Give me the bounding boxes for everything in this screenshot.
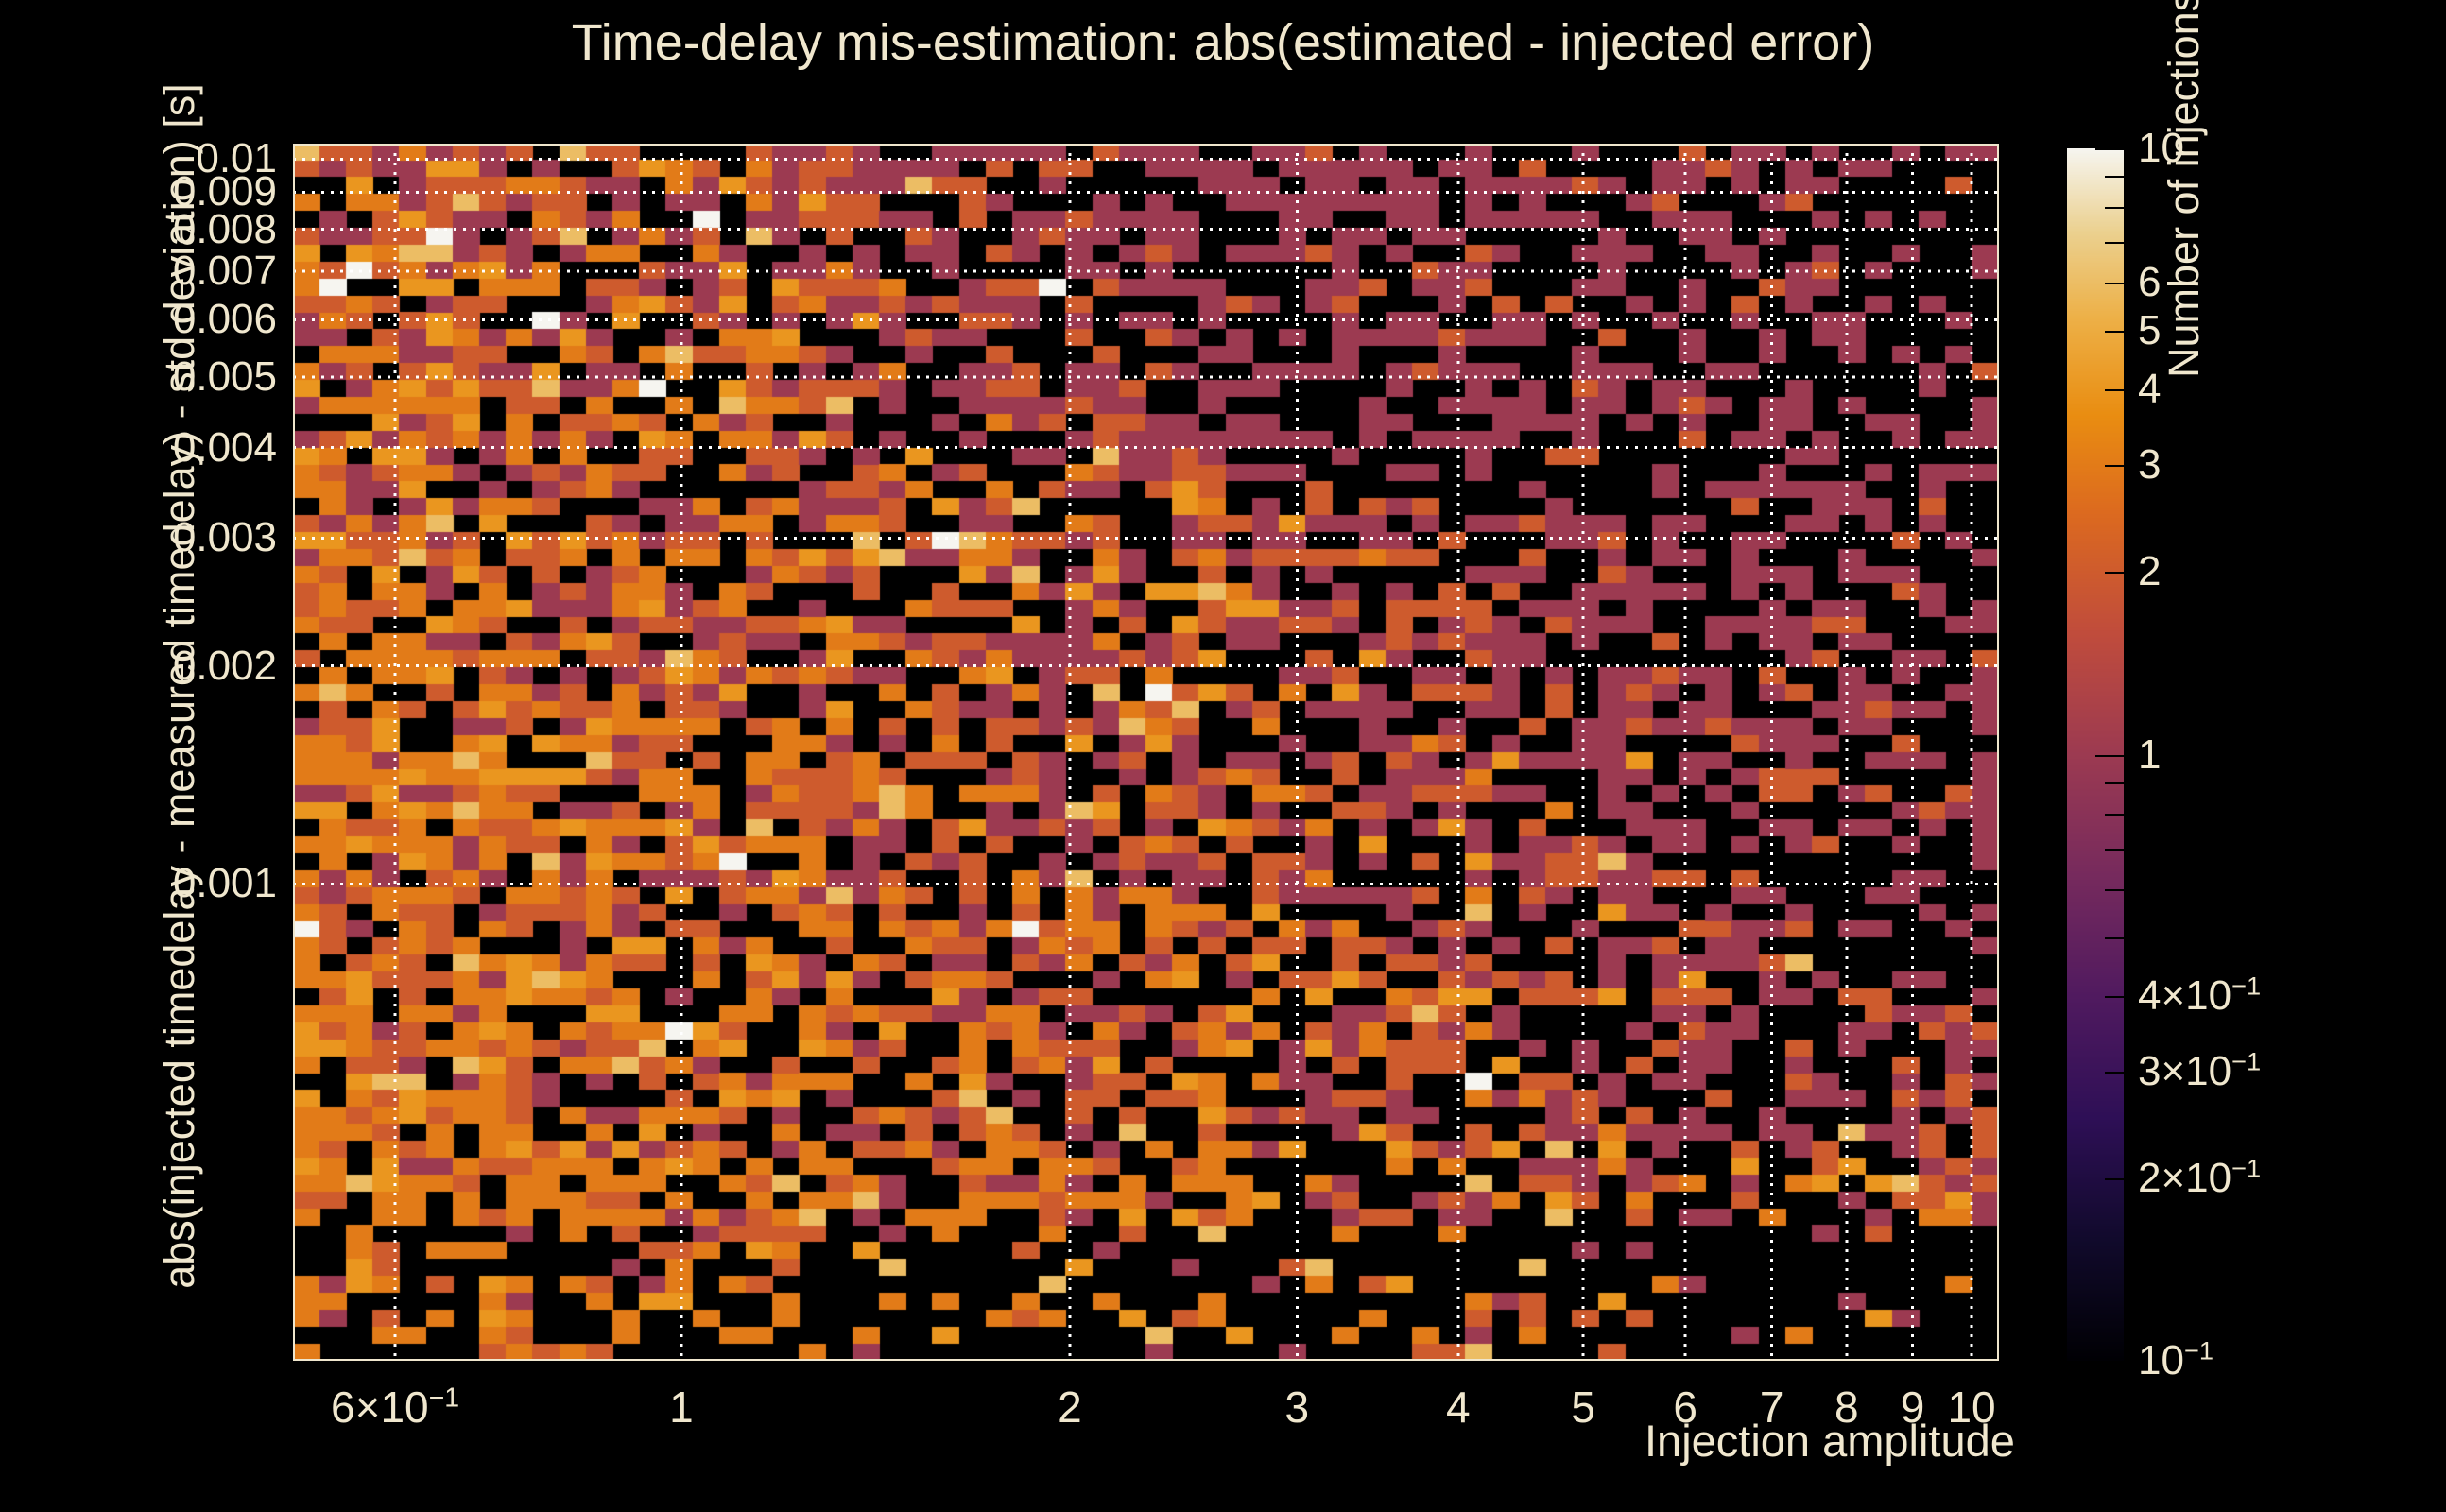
colorbar-ticks (2067, 148, 2124, 1361)
figure-canvas: Time-delay mis-estimation: abs(estimated… (0, 0, 2446, 1512)
colorbar-tick-label: 2×10−1 (2138, 1155, 2261, 1202)
x-tick-label: 5 (1571, 1382, 1595, 1433)
x-tick-label: 6×10−1 (331, 1382, 459, 1433)
colorbar-tick-mark (2105, 389, 2124, 391)
colorbar-tick-mark (2095, 1361, 2124, 1363)
colorbar-tick-mark (2105, 207, 2124, 209)
x-tick-label: 2 (1058, 1382, 1082, 1433)
y-tick-label: 0.002 (173, 643, 277, 690)
x-tick-label: 4 (1446, 1382, 1471, 1433)
z-axis-title: Number of injections (2160, 0, 2209, 378)
colorbar-tick-mark (2095, 148, 2124, 150)
x-tick-label: 10 (1947, 1382, 1995, 1433)
colorbar-tick-label: 4 (2138, 366, 2161, 413)
colorbar-tick-mark (2105, 996, 2124, 998)
y-tick-label: 0.004 (173, 424, 277, 472)
colorbar-tick-label: 3×10−1 (2138, 1048, 2261, 1095)
x-tick-label: 7 (1760, 1382, 1784, 1433)
colorbar-tick-mark (2105, 937, 2124, 939)
y-tick-label: 0.01 (196, 135, 277, 182)
x-tick-label: 3 (1284, 1382, 1309, 1433)
y-tick-label: 0.007 (173, 248, 277, 295)
colorbar-tick-label: 1 (2138, 731, 2161, 779)
colorbar-tick-mark (2105, 1072, 2124, 1074)
colorbar-tick-mark (2105, 889, 2124, 891)
heatmap-plot-area[interactable] (293, 144, 1999, 1361)
y-tick-label: 0.003 (173, 514, 277, 561)
colorbar-tick-mark (2105, 176, 2124, 178)
colorbar-tick-mark (2105, 465, 2124, 467)
colorbar-tick-label: 4×10−1 (2138, 972, 2261, 1020)
colorbar-tick-mark (2105, 849, 2124, 850)
colorbar-tick-mark (2105, 782, 2124, 784)
colorbar-tick-label: 3 (2138, 441, 2161, 489)
y-tick-label: 0.001 (173, 860, 277, 907)
x-tick-label: 1 (669, 1382, 694, 1433)
x-tick-label: 8 (1834, 1382, 1859, 1433)
colorbar-tick-mark (2095, 755, 2124, 757)
heatmap-cells (293, 144, 1999, 1361)
colorbar-tick-mark (2105, 572, 2124, 574)
y-tick-label: 0.006 (173, 296, 277, 343)
colorbar-tick-label: 10 (2138, 125, 2184, 172)
page-title: Time-delay mis-estimation: abs(estimated… (0, 13, 2446, 72)
colorbar-tick-label: 10−1 (2138, 1337, 2213, 1384)
colorbar-tick-label: 2 (2138, 548, 2161, 595)
colorbar-tick-label: 6 (2138, 259, 2161, 306)
colorbar-tick-mark (2105, 242, 2124, 244)
colorbar-tick-label: 5 (2138, 307, 2161, 354)
x-tick-label: 6 (1673, 1382, 1697, 1433)
colorbar-tick-mark (2105, 1178, 2124, 1180)
y-tick-label: 0.005 (173, 353, 277, 401)
colorbar-tick-mark (2105, 283, 2124, 284)
colorbar-tick-mark (2105, 331, 2124, 333)
x-tick-label: 9 (1901, 1382, 1925, 1433)
colorbar-tick-mark (2105, 814, 2124, 816)
colorbar[interactable] (2067, 148, 2124, 1361)
